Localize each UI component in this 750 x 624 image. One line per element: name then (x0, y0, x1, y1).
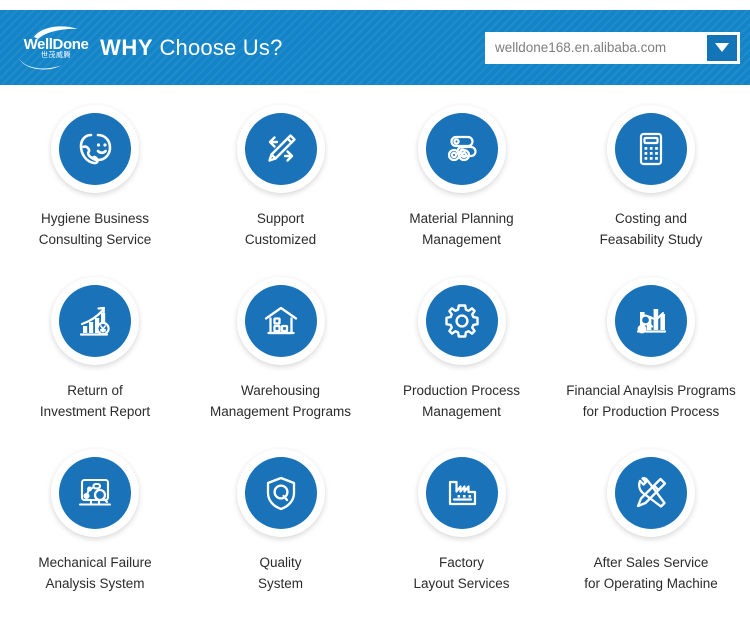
service-label: Factory Layout Services (413, 552, 509, 594)
logo-underline-swoosh (18, 57, 70, 71)
service-icon-badge (418, 449, 506, 537)
logo-wordmark: WellDone (16, 37, 96, 52)
service-icon-badge (418, 277, 506, 365)
gear-icon (426, 285, 498, 357)
welldone-logo: WellDone 世茂威腾 (16, 24, 96, 72)
service-icon-badge (607, 449, 695, 537)
service-item[interactable]: Support Customized (190, 95, 371, 267)
service-item[interactable]: Warehousing Management Programs (190, 267, 371, 439)
store-url-selector[interactable]: welldone168.en.alibaba.com (485, 32, 740, 64)
wrench-screwdriver-icon (615, 457, 687, 529)
pipe-stack-icon (426, 113, 498, 185)
service-item[interactable]: Mechanical Failure Analysis System (0, 439, 190, 611)
service-icon-badge (51, 277, 139, 365)
service-item[interactable]: Hygiene Business Consulting Service (0, 95, 190, 267)
service-label: Quality System (258, 552, 303, 594)
service-icon-badge (418, 105, 506, 193)
page-title: WHY Choose Us? (100, 35, 283, 61)
service-icon-badge (51, 105, 139, 193)
phone-smile-icon (59, 113, 131, 185)
service-item[interactable]: Production Process Management (371, 267, 552, 439)
store-url-text[interactable]: welldone168.en.alibaba.com (485, 40, 707, 55)
service-icon-badge (607, 277, 695, 365)
calculator-icon (615, 113, 687, 185)
service-icon-badge (237, 277, 325, 365)
page-header: WellDone 世茂威腾 WHY Choose Us? welldone168… (0, 10, 750, 85)
chart-magnifier-icon (615, 285, 687, 357)
chevron-down-icon[interactable] (707, 35, 737, 61)
growth-chart-yen-icon (59, 285, 131, 357)
service-label: Costing and Feasability Study (600, 208, 703, 250)
service-item[interactable]: Costing and Feasability Study (552, 95, 750, 267)
service-item[interactable]: After Sales Service for Operating Machin… (552, 439, 750, 611)
service-label: Material Planning Management (409, 208, 513, 250)
service-icon-badge (237, 449, 325, 537)
page-title-emphasis: WHY (100, 35, 153, 60)
service-icon-badge (51, 449, 139, 537)
factory-icon (426, 457, 498, 529)
pencil-ruler-icon (245, 113, 317, 185)
monitor-robot-search-icon (59, 457, 131, 529)
service-icon-badge (607, 105, 695, 193)
service-item[interactable]: Return of Investment Report (0, 267, 190, 439)
service-label: Return of Investment Report (40, 380, 150, 422)
warehouse-boxes-icon (245, 285, 317, 357)
service-label: Warehousing Management Programs (210, 380, 351, 422)
services-grid: Hygiene Business Consulting Service (0, 95, 750, 611)
footer-spacer (0, 612, 750, 624)
service-item[interactable]: Factory Layout Services (371, 439, 552, 611)
service-label: Production Process Management (403, 380, 520, 422)
service-label: Support Customized (245, 208, 316, 250)
why-choose-us-page: WellDone 世茂威腾 WHY Choose Us? welldone168… (0, 0, 750, 624)
service-icon-badge (237, 105, 325, 193)
service-item[interactable]: Quality System (190, 439, 371, 611)
service-item[interactable]: Material Planning Management (371, 95, 552, 267)
service-label: Financial Anaylsis Programs for Producti… (566, 380, 736, 422)
service-item[interactable]: Financial Anaylsis Programs for Producti… (552, 267, 750, 439)
service-label: Mechanical Failure Analysis System (38, 552, 151, 594)
service-label: After Sales Service for Operating Machin… (584, 552, 718, 594)
shield-q-icon (245, 457, 317, 529)
page-title-rest: Choose Us? (153, 35, 282, 60)
service-label: Hygiene Business Consulting Service (39, 208, 152, 250)
